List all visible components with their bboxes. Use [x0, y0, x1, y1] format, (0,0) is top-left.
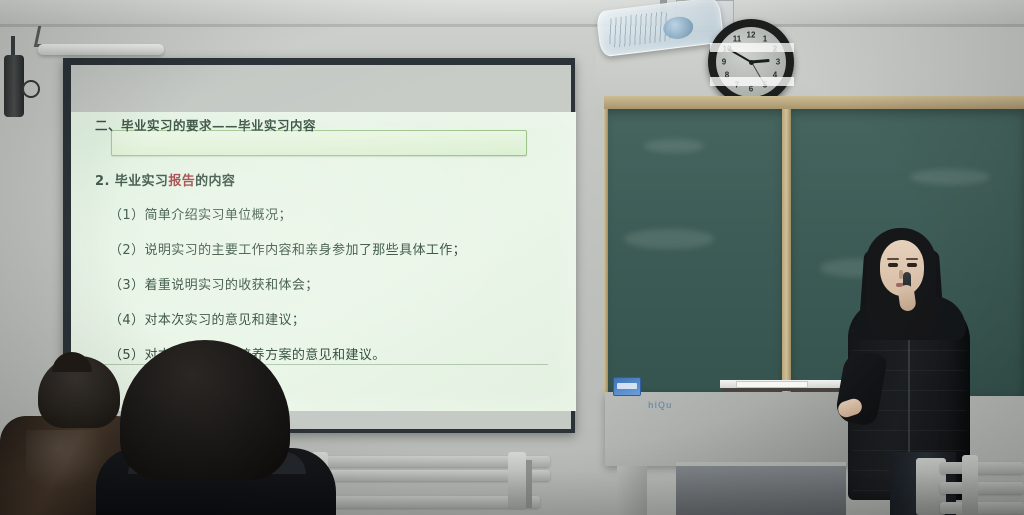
classroom-photo: 12 1 2 3 4 5 6 7 8 9 10 11	[0, 0, 1024, 515]
ceiling	[0, 0, 1024, 26]
podium-sticker-stripe	[617, 383, 637, 389]
slide-subtitle-prefix: 2. 毕业实习	[95, 174, 168, 189]
clock-face: 12 1 2 3 4 5 6 7 8 9 10 11	[716, 27, 786, 97]
podium-sticker	[613, 377, 641, 396]
slide-bullet: （4）对本次实习的意见和建议；	[109, 309, 556, 328]
slide-title: 二、毕业实习的要求——毕业实习内容	[95, 115, 316, 134]
presenter-eye-left	[888, 263, 898, 267]
cable-loop-icon	[22, 80, 40, 98]
clock-numeral: 12	[747, 31, 756, 40]
chalkboard-left-edge	[604, 109, 608, 396]
podium-paper	[736, 381, 808, 388]
slide-subtitle-suffix: 的内容	[195, 174, 235, 189]
chalkboard-top-frame	[604, 96, 1024, 109]
clock-glare	[710, 43, 794, 52]
slide-bullet: （1）简单介绍实习单位概况；	[109, 204, 556, 223]
student-front-left-jacket-sheen	[26, 430, 106, 490]
slide-subtitle: 2. 毕业实习报告的内容	[95, 170, 235, 189]
slide-bullet: （3）着重说明实习的收获和体会；	[109, 274, 556, 293]
clock-glare	[710, 77, 794, 86]
bench-post	[962, 455, 978, 515]
slide-subtitle-highlight: 报告	[168, 174, 195, 189]
bench-shadow-gap	[526, 460, 532, 508]
presenter-eyebrow-left	[887, 258, 899, 260]
clock-numeral: 3	[776, 58, 780, 67]
bench-seat	[940, 482, 1024, 494]
chalk-smudge	[644, 139, 704, 153]
ceiling-edge	[0, 24, 1024, 27]
wall-speaker	[4, 55, 24, 117]
clock-hour-hand	[751, 59, 769, 64]
podium-logo-text: hiQu	[648, 400, 673, 410]
bench-seat	[940, 502, 1024, 514]
chalk-smudge	[910, 169, 990, 185]
slide-bullet: （2）说明实习的主要工作内容和亲身参加了那些具体工作；	[109, 239, 556, 258]
screen-roller-bar	[38, 44, 164, 55]
podium-column	[617, 466, 647, 515]
presenter-eye-right	[907, 263, 917, 267]
wall-clock: 12 1 2 3 4 5 6 7 8 9 10 11	[708, 19, 794, 105]
bench-post	[508, 452, 526, 510]
podium-base-cabinet	[676, 466, 846, 515]
presenter-eyebrow-right	[906, 258, 918, 260]
chalk-smudge	[624, 229, 714, 249]
chalkboard-divider	[782, 109, 791, 396]
clock-numeral: 9	[722, 58, 726, 67]
bench-seat	[940, 462, 1024, 474]
clock-center-pin	[749, 60, 754, 65]
chalkboard-panel-left	[604, 109, 784, 396]
